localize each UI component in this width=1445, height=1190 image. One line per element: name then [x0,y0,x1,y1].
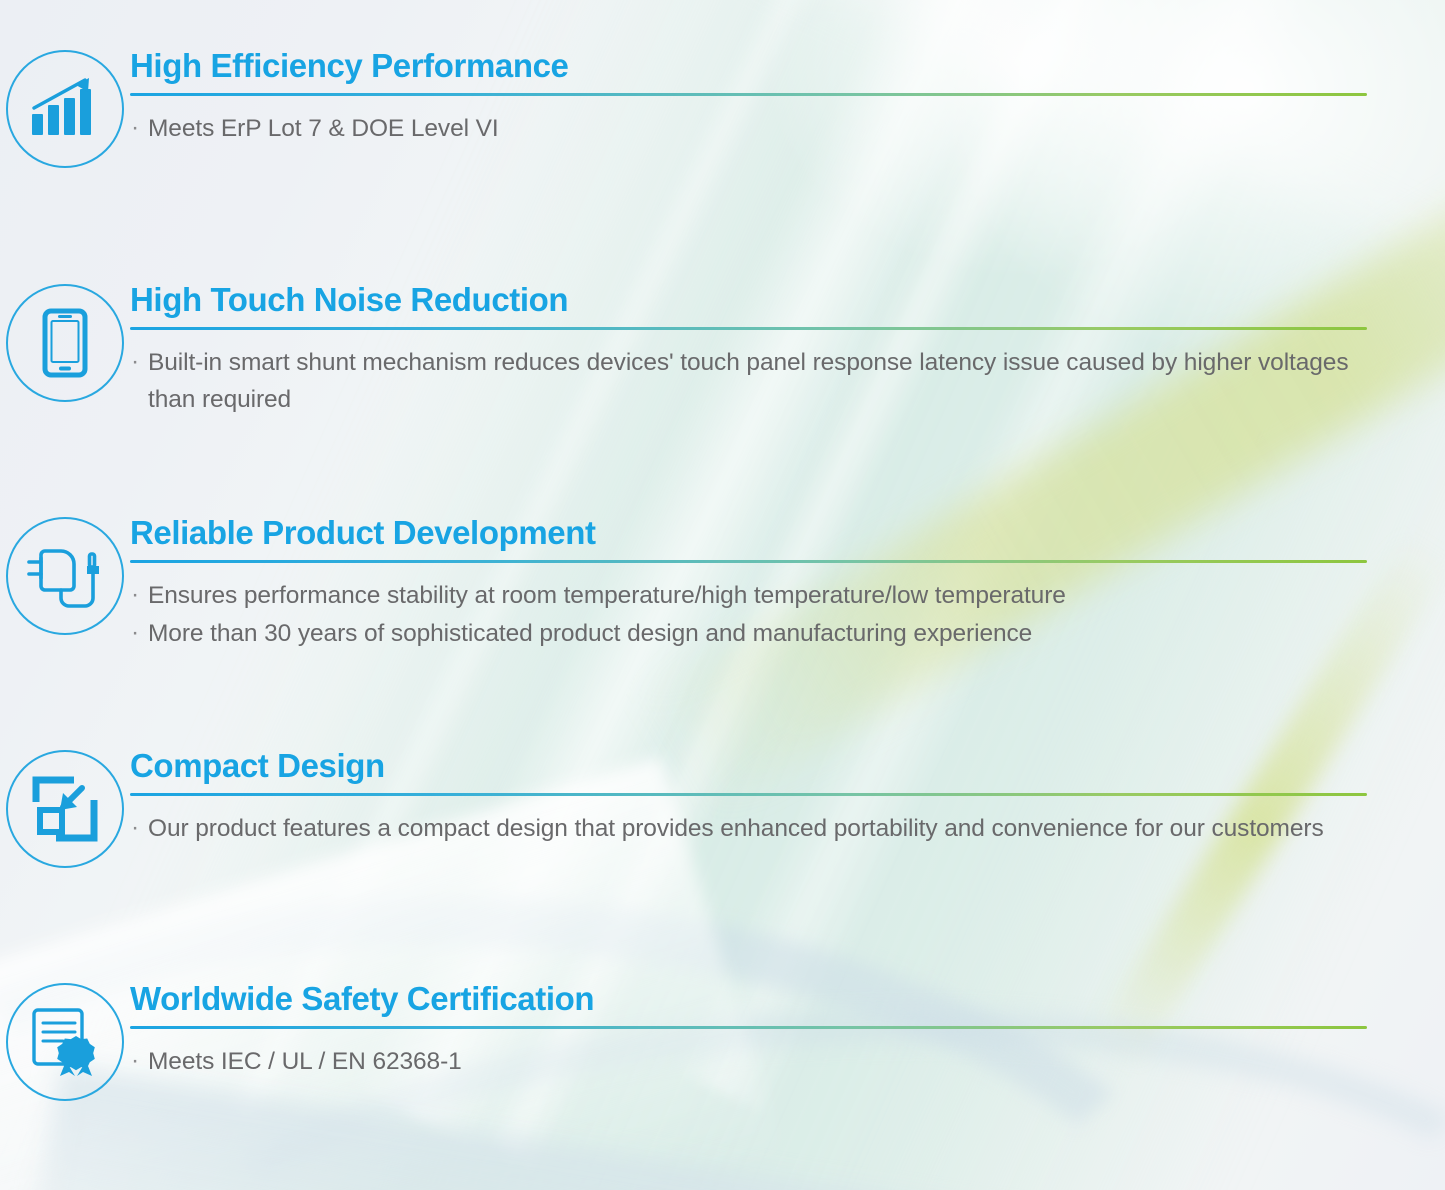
bullet-marker: · [131,343,139,380]
feature-divider [130,560,1367,563]
list-item: ·Built-in smart shunt mechanism reduces … [130,344,1367,418]
list-item: ·More than 30 years of sophisticated pro… [130,615,1367,652]
bullet-marker: · [131,809,139,846]
bullet-text: Meets IEC / UL / EN 62368-1 [148,1048,462,1075]
feature-icon-wrap [0,981,130,1101]
feature-divider [130,793,1367,796]
feature-body: Compact Design ·Our product features a c… [130,748,1445,848]
feature-title: High Touch Noise Reduction [130,282,1367,318]
feature-body: High Touch Noise Reduction ·Built-in sma… [130,282,1445,419]
feature-body: High Efficiency Performance ·Meets ErP L… [130,48,1445,148]
list-item: ·Meets IEC / UL / EN 62368-1 [130,1043,1367,1080]
bullet-marker: · [131,576,139,613]
feature-item-reliable-product-development: Reliable Product Development ·Ensures pe… [0,515,1445,653]
bar-chart-growth-icon [6,50,124,168]
feature-icon-wrap [0,48,130,168]
feature-item-compact-design: Compact Design ·Our product features a c… [0,748,1445,868]
bullet-text: Meets ErP Lot 7 & DOE Level VI [148,115,499,142]
feature-body: Reliable Product Development ·Ensures pe… [130,515,1445,653]
list-item: ·Our product features a compact design t… [130,810,1367,847]
feature-item-worldwide-safety-certification: Worldwide Safety Certification ·Meets IE… [0,981,1445,1101]
list-item: ·Ensures performance stability at room t… [130,577,1367,614]
compact-resize-icon [6,750,124,868]
feature-list: High Efficiency Performance ·Meets ErP L… [0,0,1445,1190]
feature-body: Worldwide Safety Certification ·Meets IE… [130,981,1445,1081]
feature-title: High Efficiency Performance [130,48,1367,84]
feature-bullet-list: ·Meets IEC / UL / EN 62368-1 [130,1043,1367,1080]
bullet-text: More than 30 years of sophisticated prod… [148,620,1032,647]
feature-bullet-list: ·Ensures performance stability at room t… [130,577,1367,652]
feature-title: Compact Design [130,748,1367,784]
feature-item-high-touch-noise-reduction: High Touch Noise Reduction ·Built-in sma… [0,282,1445,419]
feature-title: Reliable Product Development [130,515,1367,551]
power-adapter-icon [6,517,124,635]
bullet-text: Our product features a compact design th… [148,815,1324,842]
feature-icon-wrap [0,748,130,868]
feature-icon-wrap [0,515,130,635]
bullet-marker: · [131,614,139,651]
certificate-seal-icon [6,983,124,1101]
list-item: ·Meets ErP Lot 7 & DOE Level VI [130,110,1367,147]
feature-icon-wrap [0,282,130,402]
feature-bullet-list: ·Meets ErP Lot 7 & DOE Level VI [130,110,1367,147]
bullet-text: Ensures performance stability at room te… [148,582,1066,609]
smartphone-icon [6,284,124,402]
feature-bullet-list: ·Our product features a compact design t… [130,810,1367,847]
bullet-text: Built-in smart shunt mechanism reduces d… [148,349,1348,413]
feature-divider [130,327,1367,330]
feature-highlights-page: High Efficiency Performance ·Meets ErP L… [0,0,1445,1190]
bullet-marker: · [131,109,139,146]
feature-divider [130,93,1367,96]
feature-bullet-list: ·Built-in smart shunt mechanism reduces … [130,344,1367,418]
feature-item-high-efficiency-performance: High Efficiency Performance ·Meets ErP L… [0,48,1445,168]
feature-divider [130,1026,1367,1029]
bullet-marker: · [131,1042,139,1079]
feature-title: Worldwide Safety Certification [130,981,1367,1017]
